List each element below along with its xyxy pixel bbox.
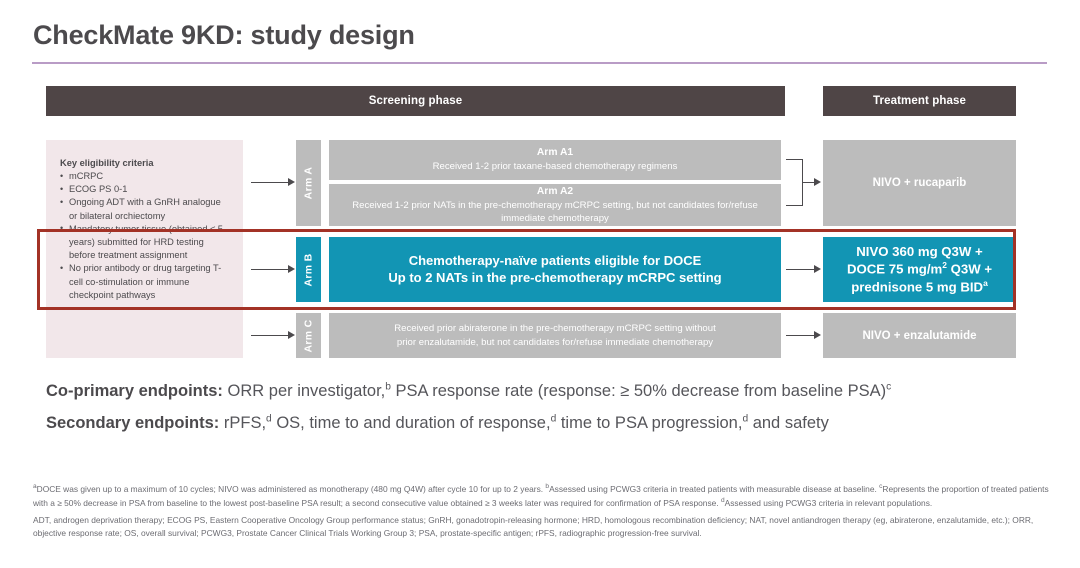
footnote-text-a: DOCE was given up to a maximum of 10 cyc… — [37, 484, 546, 494]
list-item: ECOG PS 0-1 — [60, 183, 229, 196]
co-primary-label: Co-primary endpoints: — [46, 382, 223, 400]
arrow-head-c — [288, 331, 295, 339]
arm-label-c: Arm C — [296, 313, 321, 358]
arm-label-a: Arm A — [296, 140, 321, 226]
arm-a-treatment: NIVO + rucaparib — [823, 140, 1016, 226]
abbreviations-list: ADT, androgen deprivation therapy; ECOG … — [33, 514, 1053, 540]
secondary-label: Secondary endpoints: — [46, 414, 219, 432]
arm-a1-description: Arm A1 Received 1-2 prior taxane-based c… — [329, 140, 781, 180]
arm-a2-description: Arm A2 Received 1-2 prior NATs in the pr… — [329, 184, 781, 226]
footnote-ref-c: c — [886, 382, 891, 393]
arm-a1-name: Arm A1 — [537, 146, 573, 160]
arm-c-description: Received prior abiraterone in the pre-ch… — [329, 313, 781, 358]
arm-a2-name: Arm A2 — [537, 185, 573, 199]
secondary-text-3: time to PSA progression, — [556, 414, 742, 432]
title-divider — [32, 62, 1047, 64]
arm-b-highlight-border — [37, 229, 1016, 310]
treatment-phase-header: Treatment phase — [823, 86, 1016, 116]
arrow-head-a-treatment — [814, 178, 821, 186]
arrow-head-a — [288, 178, 295, 186]
co-primary-text-1: ORR per investigator, — [223, 382, 385, 400]
arm-c-treatment: NIVO + enzalutamide — [823, 313, 1016, 358]
arrow-to-arm-a — [251, 182, 289, 183]
arrow-to-arm-c — [251, 335, 289, 336]
arrow-head-c-treatment — [814, 331, 821, 339]
arrow-to-arm-b-treatment — [786, 269, 815, 270]
footnote-text-b: Assessed using PCWG3 criteria in treated… — [549, 484, 879, 494]
secondary-text-2: OS, time to and duration of response, — [272, 414, 551, 432]
secondary-text-4: and safety — [748, 414, 829, 432]
study-design-diagram: Screening phase Treatment phase Key elig… — [46, 86, 1016, 368]
arm-c-text-line-2: prior enzalutamide, but not candidates f… — [397, 336, 713, 349]
footnotes-section: aDOCE was given up to a maximum of 10 cy… — [33, 482, 1053, 540]
arrow-to-arm-c-treatment — [786, 335, 815, 336]
arrow-to-arm-b — [251, 269, 289, 270]
secondary-endpoints-line: Secondary endpoints: rPFS,d OS, time to … — [46, 412, 1056, 435]
list-item: mCRPC — [60, 170, 229, 183]
list-item: Ongoing ADT with a GnRH analogue or bila… — [60, 196, 229, 222]
arm-a2-text: Received 1-2 prior NATs in the pre-chemo… — [345, 199, 765, 225]
eligibility-heading: Key eligibility criteria — [60, 158, 229, 168]
page-title: CheckMate 9KD: study design — [33, 20, 415, 51]
screening-phase-header: Screening phase — [46, 86, 785, 116]
arm-a1-text: Received 1-2 prior taxane-based chemothe… — [433, 160, 678, 173]
arm-c-text-line-1: Received prior abiraterone in the pre-ch… — [394, 322, 716, 335]
arrow-head-b-treatment — [814, 265, 821, 273]
co-primary-text-2: PSA response rate (response: ≥ 50% decre… — [391, 382, 886, 400]
co-primary-endpoints-line: Co-primary endpoints: ORR per investigat… — [46, 380, 1056, 403]
slide: CheckMate 9KD: study design Screening ph… — [0, 0, 1080, 568]
endpoints-section: Co-primary endpoints: ORR per investigat… — [46, 380, 1056, 444]
arm-a-bracket — [786, 159, 803, 206]
footnote-text-d: Assessed using PCWG3 criteria in relevan… — [725, 497, 933, 507]
secondary-text-1: rPFS, — [219, 414, 266, 432]
arrow-head-b — [288, 265, 295, 273]
footnote-definitions: aDOCE was given up to a maximum of 10 cy… — [33, 482, 1053, 509]
